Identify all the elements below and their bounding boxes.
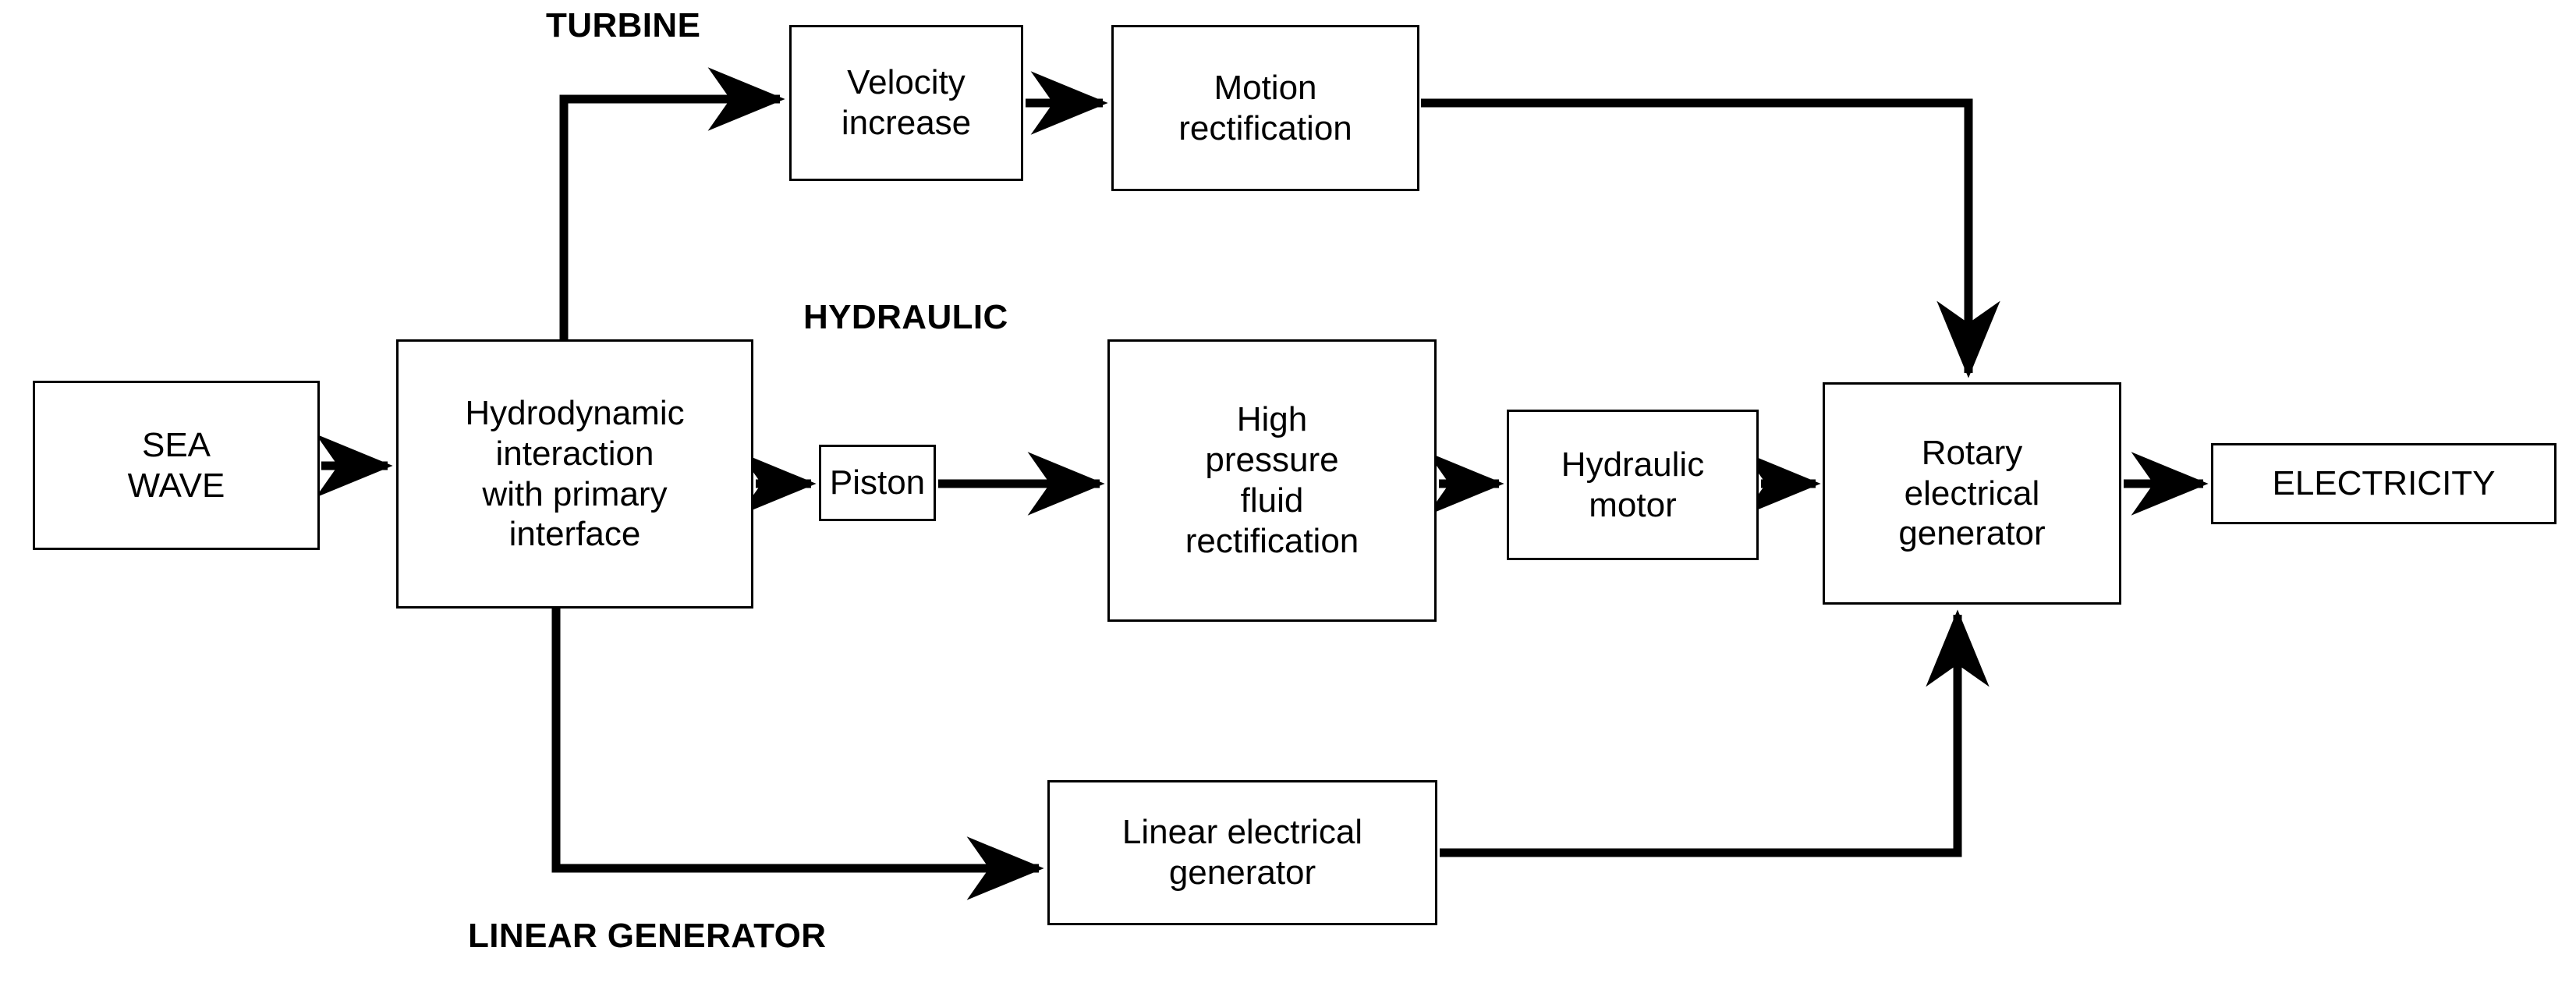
node-velocity-increase: Velocity increase [789, 25, 1023, 181]
node-electricity: ELECTRICITY [2211, 443, 2557, 524]
connector-hydrodynamic-to-velocity-increase [564, 99, 780, 341]
node-linear-electrical-generator: Linear electrical generator [1047, 780, 1437, 925]
flowchart-canvas: TURBINE HYDRAULIC LINEAR GENERATOR SEA W… [0, 0, 2576, 990]
node-hydrodynamic-interaction: Hydrodynamic interaction with primary in… [396, 339, 753, 609]
connector-hydrodynamic-to-linear-generator [556, 607, 1039, 868]
group-label-hydraulic: HYDRAULIC [803, 298, 1008, 337]
node-high-pressure-fluid-rectification: High pressure fluid rectification [1107, 339, 1437, 622]
node-rotary-electrical-generator: Rotary electrical generator [1823, 382, 2121, 605]
node-motion-rectification: Motion rectification [1111, 25, 1419, 191]
group-label-linear-generator: LINEAR GENERATOR [468, 917, 826, 956]
group-label-turbine: TURBINE [546, 6, 700, 45]
node-hydraulic-motor: Hydraulic motor [1507, 410, 1759, 560]
node-sea-wave: SEA WAVE [33, 381, 320, 550]
node-piston: Piston [819, 445, 936, 521]
connector-linear-generator-to-rotary-generator [1440, 615, 1958, 853]
connector-motion-rectification-to-rotary-generator [1421, 103, 1968, 373]
